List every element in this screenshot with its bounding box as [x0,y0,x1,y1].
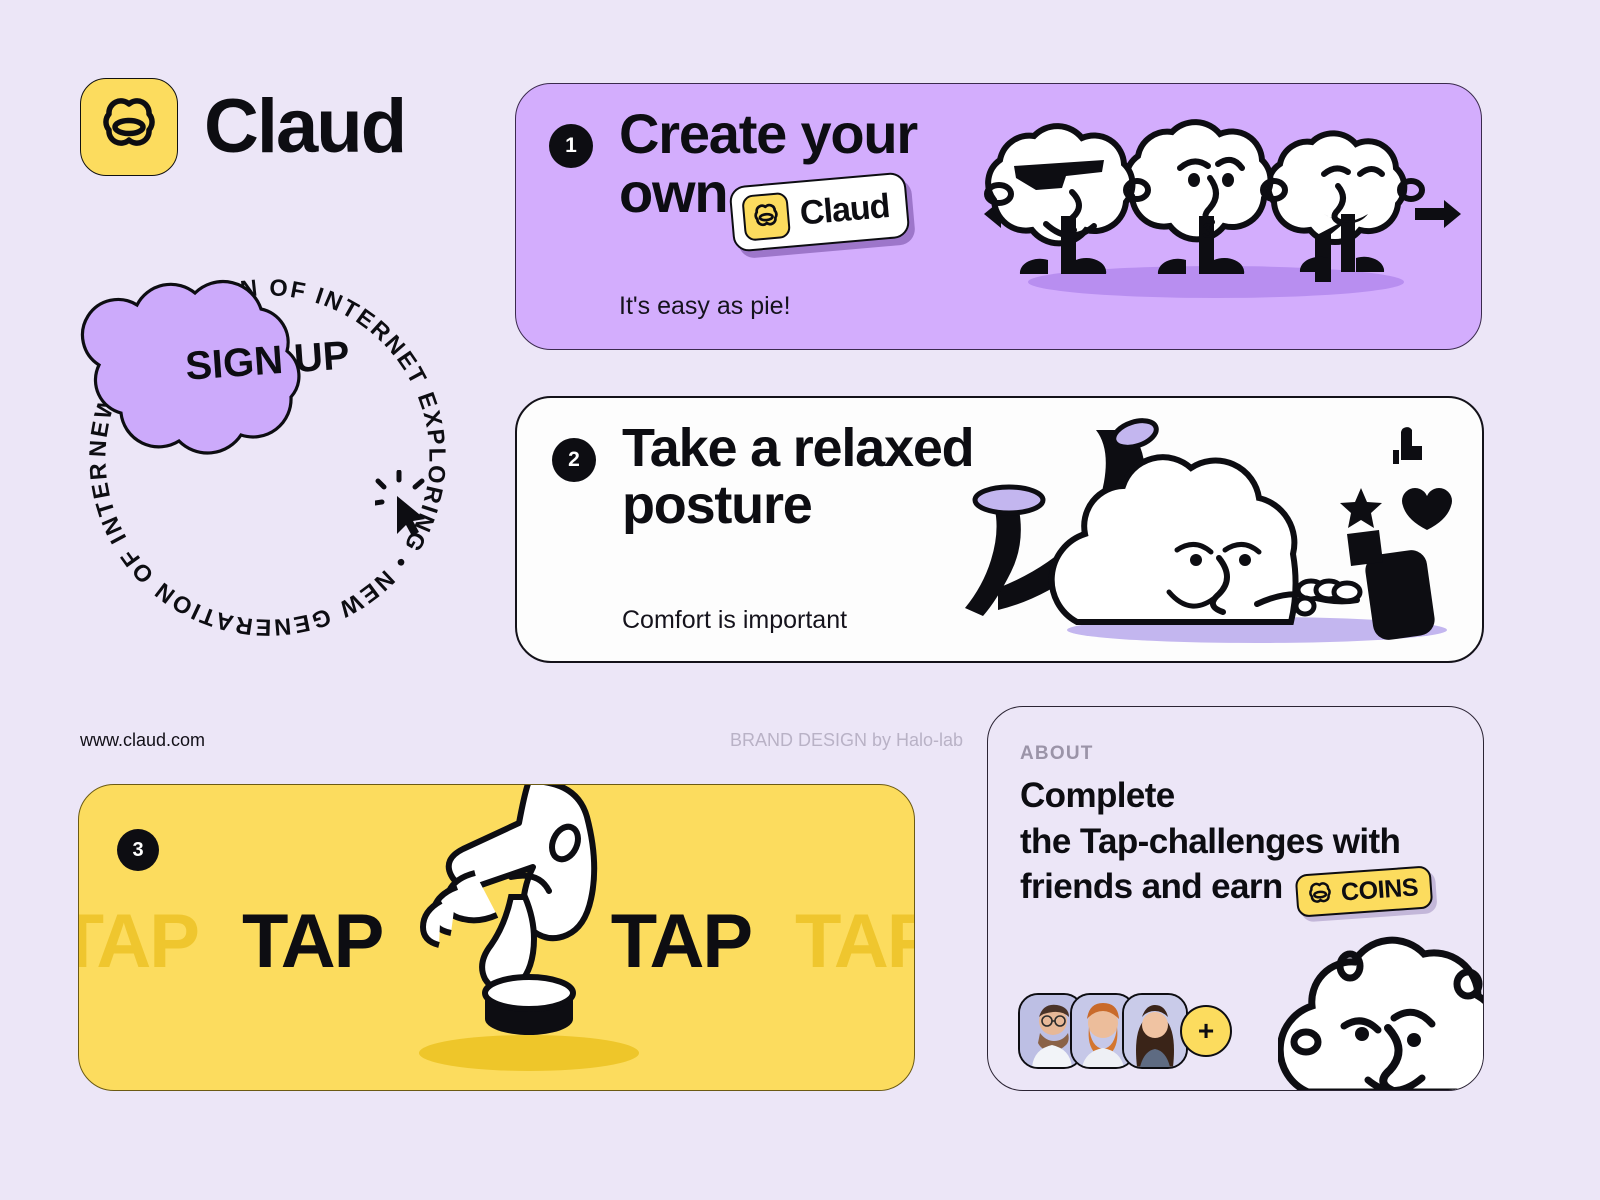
cloud-character-face-illustration [1278,922,1484,1091]
about-heading-line: the Tap-challenges with [1020,819,1450,865]
claud-cloud-logo-icon [741,192,791,242]
step-number-badge: 2 [552,438,596,482]
claud-badge-pill[interactable]: Claud [728,171,911,252]
claud-cloud-logo-icon [80,78,178,176]
step-number-badge: 1 [549,124,593,168]
reaction-icons [1340,427,1452,566]
about-label: ABOUT [1020,743,1094,765]
about-heading-line: Complete [1020,773,1450,819]
coins-badge[interactable]: COINS [1295,866,1434,918]
poster-canvas: Claud NEW GENERATION OF INTERNET EXPLORI… [0,0,1600,1200]
card-tap-challenge[interactable]: 3 TAP TAP TAP TAP TAP [78,784,915,1091]
avatar[interactable] [1122,993,1188,1069]
card-create-your-own[interactable]: 1 Create your own Claud It's easy as pie… [515,83,1482,350]
coins-label: COINS [1340,872,1419,910]
card-subtitle: Comfort is important [622,606,847,635]
brand-design-credit: BRAND DESIGN by Halo-lab [730,730,963,751]
card-about[interactable]: ABOUT Complete the Tap-challenges with f… [987,706,1484,1091]
svg-text:3: 3 [1202,220,1214,243]
three-cloud-characters-illustration: 3 [956,86,1476,341]
about-heading-line: friends and earn [1020,867,1283,906]
brand-name: Claud [204,89,405,165]
about-heading-line-with-badge: friends and earn COINS [1020,864,1450,913]
friend-avatar-group[interactable]: + [1018,993,1232,1069]
brand-logo[interactable]: Claud [80,78,405,176]
hand-pressing-button-illustration [379,784,689,1081]
claud-cloud-logo-icon [1306,881,1334,908]
reclining-cloud-illustration [957,408,1477,658]
card-subtitle: It's easy as pie! [619,292,791,321]
card-relaxed-posture[interactable]: 2 Take a relaxed posture Comfort is impo… [515,396,1484,663]
signup-badge[interactable]: NEW GENERATION OF INTERNET EXPLORING • N… [75,265,460,650]
tap-word: TAP [78,898,198,985]
tap-word: TAP [242,898,382,985]
click-cursor-icon [375,470,435,536]
step-number-badge: 3 [117,829,159,871]
add-friend-button[interactable]: + [1180,1005,1232,1057]
tap-word: TAP [795,898,915,985]
claud-badge-label: Claud [798,186,891,233]
about-heading: Complete the Tap-challenges with friends… [1020,773,1450,913]
site-url[interactable]: www.claud.com [80,730,205,751]
